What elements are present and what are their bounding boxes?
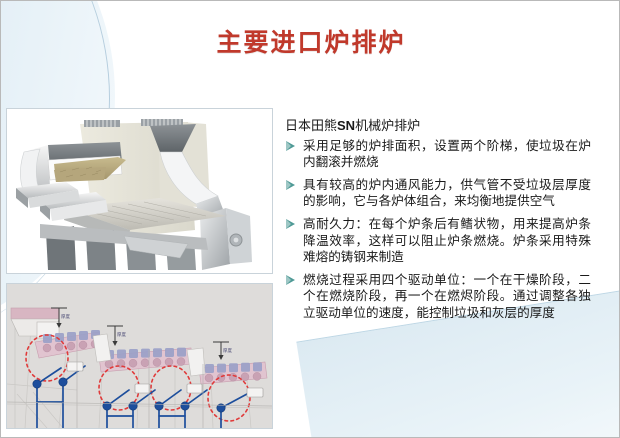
bullet-text: 燃烧过程采用四个驱动单位：一个在干燥阶段，二个在燃烧阶段，再一个在燃烬阶段。通过… [303,273,591,320]
figure-top-image [10,112,269,270]
bullet-item-4: 燃烧过程采用四个驱动单位：一个在干燥阶段，二个在燃烧阶段，再一个在燃烬阶段。通过… [285,272,591,322]
section-heading: 日本田熊SN机械炉排炉 [285,117,591,135]
heading-suffix: 机械炉排炉 [355,118,420,133]
arrow-bullet-icon [286,141,295,151]
svg-text:厚度: 厚度 [61,313,70,320]
figure-grate-furnace-render [6,108,273,274]
bottom-right-decor-band-back [347,348,620,438]
grate-furnace-3d-illustration [10,112,269,270]
arrow-bullet-icon [286,275,295,285]
figure-drive-units-schematic: 厚度 厚度 厚度 [6,283,273,429]
bullet-text: 具有较高的炉内通风能力，供气管不受垃圾层厚度的影响，它与各炉体组合，来均衡地提供… [303,178,591,209]
arrow-bullet-icon [286,180,295,190]
text-column: 日本田熊SN机械炉排炉 采用足够的炉排面积，设置两个阶梯，使垃圾在炉内翻滚并燃烧… [285,117,591,328]
svg-text:厚度: 厚度 [117,331,126,338]
bullet-item-3: 高耐久力：在每个炉条后有鳍状物，用来提高炉条降温效率，这样可以阻止炉条燃烧。炉条… [285,216,591,266]
grate-drive-schematic-illustration: 厚度 厚度 厚度 [7,284,272,428]
bullet-list: 采用足够的炉排面积，设置两个阶梯，使垃圾在炉内翻滚并燃烧 具有较高的炉内通风能力… [285,138,591,322]
bullet-item-2: 具有较高的炉内通风能力，供气管不受垃圾层厚度的影响，它与各炉体组合，来均衡地提供… [285,177,591,210]
arrow-bullet-icon [286,219,295,229]
slide-title: 主要进口炉排炉 [1,23,620,59]
heading-prefix: 日本田熊 [285,118,337,133]
heading-model-code: SN [337,118,355,133]
svg-text:厚度: 厚度 [223,347,232,354]
bullet-text: 采用足够的炉排面积，设置两个阶梯，使垃圾在炉内翻滚并燃烧 [303,139,591,170]
figure-bottom-image: 厚度 厚度 厚度 [7,284,272,428]
bullet-text: 高耐久力：在每个炉条后有鳍状物，用来提高炉条降温效率，这样可以阻止炉条燃烧。炉条… [303,217,591,264]
slide-canvas: 主要进口炉排炉 [0,0,620,438]
bullet-item-1: 采用足够的炉排面积，设置两个阶梯，使垃圾在炉内翻滚并燃烧 [285,138,591,171]
